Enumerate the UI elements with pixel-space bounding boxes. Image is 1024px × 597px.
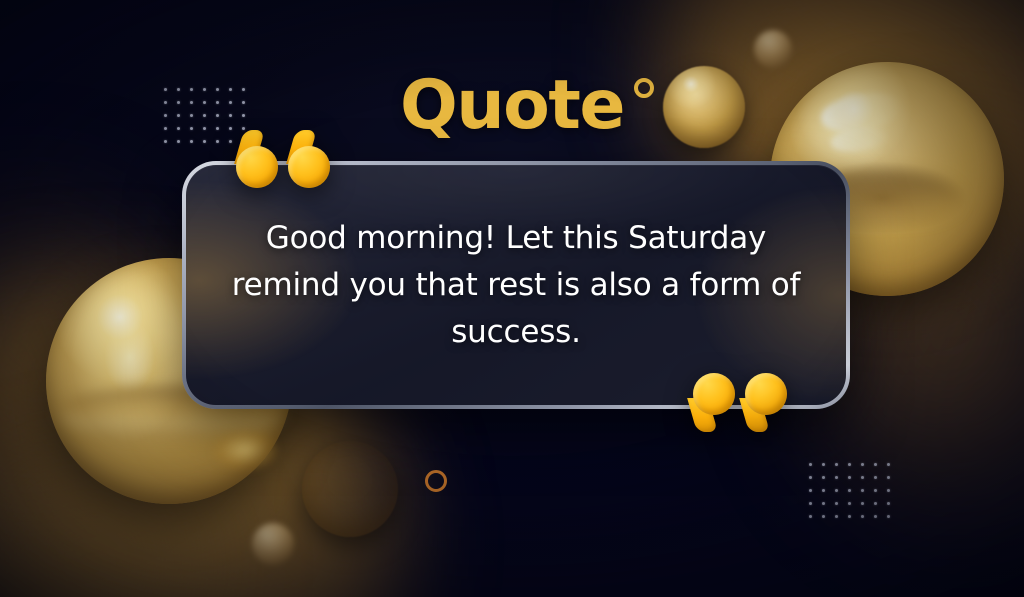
- quote-glyph: [234, 128, 280, 190]
- medium-bottom-gold-sphere: [302, 441, 398, 537]
- sphere-specular-highlight-secondary: [829, 124, 888, 155]
- quote-glyph: [690, 372, 736, 434]
- sphere-secondary-highlight: [213, 430, 277, 469]
- opening-quotation-mark-icon: [234, 128, 332, 190]
- circle-outline-icon: [425, 470, 447, 492]
- quote-graphic-canvas: Quote Good morning! Let this Saturday re…: [0, 0, 1024, 597]
- sphere-specular-highlight: [819, 88, 903, 136]
- quote-glyph-bowl: [288, 146, 330, 188]
- quote-text: Good morning! Let this Saturday remind y…: [222, 215, 810, 356]
- closing-quotation-mark-icon: [690, 372, 788, 434]
- medium-top-gold-sphere: [663, 66, 745, 148]
- quote-glyph-bowl: [236, 146, 278, 188]
- small-blurred-sphere-top-right: [754, 30, 792, 68]
- quote-glyph-bowl: [693, 373, 735, 415]
- small-blurred-sphere-bottom-left: [252, 523, 294, 565]
- dot-grid-bottom-right: [809, 463, 895, 523]
- quote-glyph: [742, 372, 788, 434]
- quote-glyph: [286, 128, 332, 190]
- quote-glyph-bowl: [745, 373, 787, 415]
